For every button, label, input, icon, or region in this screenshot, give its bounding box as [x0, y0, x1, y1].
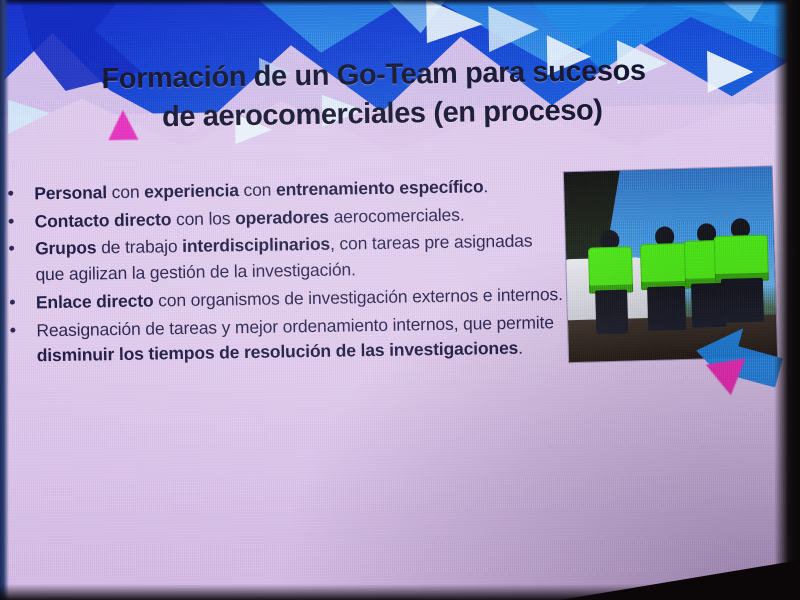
pink-triangle-down-icon — [706, 359, 751, 399]
photo-person — [713, 217, 770, 342]
bullet-text: Reasignación de tareas y mejor ordenamie… — [36, 310, 564, 370]
bullet-list: Personal con experiencia con entrenamien… — [1, 173, 564, 372]
photo-person — [587, 230, 634, 335]
bullet-dot-icon — [10, 300, 15, 305]
slide-title-line-1: Formación de un Go-Team para sucesos — [101, 55, 646, 96]
frame-edge-left — [0, 0, 9, 600]
bullet-dot-icon — [9, 246, 14, 251]
slide-title: Formación de un Go-Team para sucesos de … — [101, 51, 722, 138]
bullet-text: Grupos de trabajo interdisciplinarios, c… — [35, 228, 563, 288]
slide-photo — [564, 166, 777, 362]
list-item: Grupos de trabajo interdisciplinarios, c… — [2, 228, 563, 288]
frame-edge-right — [774, 0, 800, 600]
projection-screen: Formación de un Go-Team para sucesos de … — [0, 0, 800, 600]
list-item: Reasignación de tareas y mejor ordenamie… — [3, 310, 564, 370]
bullet-dot-icon — [9, 218, 14, 223]
frame-edge-top — [0, 0, 800, 6]
slide-photo-frame: Formación de un Go-Team para sucesos de … — [0, 0, 800, 600]
bullet-dot-icon — [10, 327, 15, 332]
